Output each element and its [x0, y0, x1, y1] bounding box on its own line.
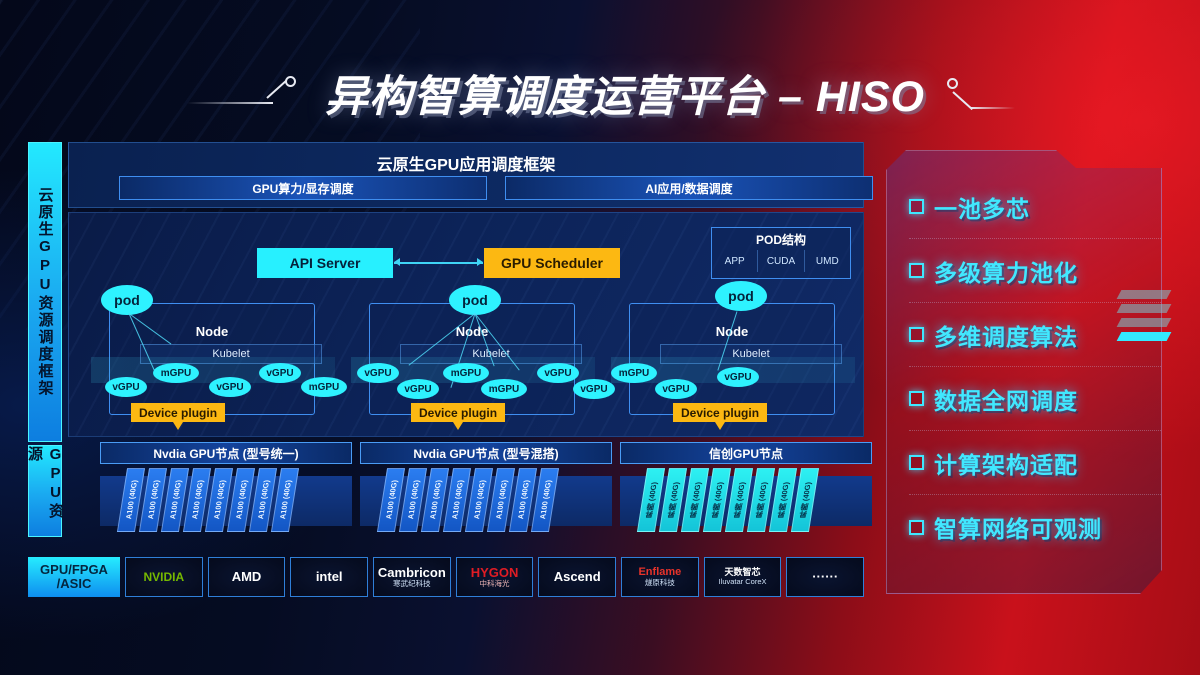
gpu-card-label: A100 (40G)	[515, 480, 530, 519]
gpu-card-label: A100 (40G)	[493, 480, 508, 519]
device-plugin-box[interactable]: Device plugin	[673, 403, 767, 422]
pod-ellipse[interactable]: pod	[449, 285, 501, 315]
vendor-name: Ascend	[554, 570, 601, 584]
vendor-name: Cambricon	[378, 566, 446, 580]
vendor-logo[interactable]: AMD	[208, 557, 286, 597]
gpu-ellipse[interactable]: mGPU	[443, 363, 489, 383]
bar-gpu-compute-scheduling[interactable]: GPU算力/显存调度	[119, 176, 487, 200]
gpu-ellipse[interactable]: vGPU	[397, 379, 439, 399]
device-plugin-arrow-icon	[453, 422, 463, 430]
gpu-card-label: 昇腾 (40G)	[687, 482, 704, 518]
vendor-name: NVIDIA	[144, 571, 185, 584]
device-plugin-arrow-icon	[173, 422, 183, 430]
scheduling-detail-panel: API Server GPU Scheduler POD结构 APP CUDA …	[68, 212, 864, 437]
gpu-ellipse[interactable]: vGPU	[259, 363, 301, 383]
bar-ai-data-scheduling[interactable]: AI应用/数据调度	[505, 176, 873, 200]
gpu-ellipse[interactable]: vGPU	[717, 367, 759, 387]
gpu-card-label: A100 (40G)	[167, 480, 182, 519]
title-ornament-right-icon	[943, 73, 1013, 113]
feature-item[interactable]: 一池多芯	[909, 175, 1161, 239]
feature-label: 计算架构适配	[934, 446, 1078, 480]
vendor-name: HYGON	[471, 566, 519, 580]
vendor-logo[interactable]: intel	[290, 557, 368, 597]
checkbox-square-icon	[909, 520, 924, 535]
arrow-right-icon	[477, 258, 483, 266]
pod-ellipse[interactable]: pod	[101, 285, 153, 315]
gpu-card-label: 昇腾 (40G)	[731, 482, 748, 518]
architecture-diagram: 云原生GPU资源调度框架 GPU资源 云原生GPU应用调度框架 GPU算力/显存…	[28, 142, 864, 600]
gpu-card-stack: A100 (40G)A100 (40G)A100 (40G)A100 (40G)…	[382, 468, 554, 532]
feature-label: 数据全网调度	[934, 382, 1078, 416]
vendor-logo-row: GPU/FPGA /ASIC NVIDIAAMDintelCambricon寒武…	[28, 557, 864, 597]
page-title: 异构智算调度运营平台 – HISO	[325, 62, 925, 124]
gpu-ellipse[interactable]: vGPU	[573, 379, 615, 399]
vendor-logo[interactable]: ······	[786, 557, 864, 597]
pod-cell-cuda: CUDA	[757, 250, 803, 272]
feature-item[interactable]: 数据全网调度	[909, 367, 1161, 431]
cloud-native-framework-panel: 云原生GPU应用调度框架 GPU算力/显存调度 AI应用/数据调度	[68, 142, 864, 208]
edge-stripe-decoration	[1119, 290, 1169, 370]
gpu-card-label: A100 (40G)	[449, 480, 464, 519]
gpu-card-label: A100 (40G)	[233, 480, 248, 519]
feature-item[interactable]: 计算架构适配	[909, 431, 1161, 495]
gpu-scheduler-box[interactable]: GPU Scheduler	[484, 248, 620, 278]
pod-structure-box: POD结构 APP CUDA UMD	[711, 227, 851, 279]
gpu-group-heading: 信创GPU节点	[620, 442, 872, 464]
vendor-logo[interactable]: HYGON中科海光	[456, 557, 534, 597]
vendor-subname: Iluvatar CoreX	[719, 578, 767, 586]
device-plugin-box[interactable]: Device plugin	[131, 403, 225, 422]
framework-heading: 云原生GPU应用调度框架	[69, 143, 863, 175]
checkbox-square-icon	[909, 263, 924, 278]
pod-cell-umd: UMD	[804, 250, 850, 272]
vendor-subname: 中科海光	[471, 580, 519, 588]
vendor-subname: 寒武纪科技	[378, 580, 446, 588]
feature-label: 一池多芯	[934, 190, 1030, 224]
gpu-card-label: 昇腾 (40G)	[709, 482, 726, 518]
title-ornament-left-icon	[187, 73, 307, 113]
gpu-card-stack: 昇腾 (40G)昇腾 (40G)昇腾 (40G)昇腾 (40G)昇腾 (40G)…	[642, 468, 814, 532]
gpu-card-label: A100 (40G)	[537, 480, 552, 519]
vendor-logo[interactable]: Enflame燧原科技	[621, 557, 699, 597]
arrow-left-icon	[394, 258, 400, 266]
gpu-node-group: 信创GPU节点 昇腾 (40G)昇腾 (40G)昇腾 (40G)昇腾 (40G)…	[620, 442, 872, 538]
gpu-card-label: A100 (40G)	[189, 480, 204, 519]
pod-ellipse[interactable]: pod	[715, 281, 767, 311]
gpu-card-label: A100 (40G)	[471, 480, 486, 519]
vendor-row-label-l2: /ASIC	[57, 577, 92, 591]
title-bar: 异构智算调度运营平台 – HISO	[0, 58, 1200, 128]
gpu-ellipse[interactable]: mGPU	[153, 363, 199, 383]
gpu-group-heading: Nvdia GPU节点 (型号统一)	[100, 442, 352, 464]
vendor-name: AMD	[232, 570, 262, 584]
gpu-card-label: 昇腾 (40G)	[665, 482, 682, 518]
gpu-group-heading: Nvdia GPU节点 (型号混搭)	[360, 442, 612, 464]
gpu-card-label: A100 (40G)	[211, 480, 226, 519]
gpu-ellipse[interactable]: mGPU	[301, 377, 347, 397]
gpu-ellipse[interactable]: vGPU	[655, 379, 697, 399]
checkbox-square-icon	[909, 391, 924, 406]
feature-label: 多级算力池化	[934, 254, 1078, 288]
vendor-name: intel	[316, 570, 343, 584]
gpu-ellipse[interactable]: vGPU	[105, 377, 147, 397]
connector-api-scheduler	[394, 262, 483, 264]
node-group: Node Kubelet pod mGPU vGPU vGPU mGPU Dev…	[611, 285, 855, 427]
vendor-subname: 燧原科技	[638, 579, 681, 587]
gpu-card-label: A100 (40G)	[427, 480, 442, 519]
device-plugin-box[interactable]: Device plugin	[411, 403, 505, 422]
gpu-card-stack: A100 (40G)A100 (40G)A100 (40G)A100 (40G)…	[122, 468, 294, 532]
gpu-card-label: A100 (40G)	[123, 480, 138, 519]
checkbox-square-icon	[909, 199, 924, 214]
vendor-logo[interactable]: Cambricon寒武纪科技	[373, 557, 451, 597]
node-group: Node Kubelet pod vGPU vGPU mGPU mGPU vGP…	[351, 285, 595, 427]
gpu-card-label: A100 (40G)	[383, 480, 398, 519]
gpu-card-label: 昇腾 (40G)	[643, 482, 660, 518]
gpu-ellipse[interactable]: mGPU	[611, 363, 657, 383]
api-server-box[interactable]: API Server	[257, 248, 393, 278]
node-title: Node	[110, 324, 314, 339]
gpu-card-label: A100 (40G)	[255, 480, 270, 519]
gpu-resource-row: Nvdia GPU节点 (型号统一) A100 (40G)A100 (40G)A…	[68, 442, 864, 538]
node-title: Node	[370, 324, 574, 339]
gpu-card-label: A100 (40G)	[277, 480, 292, 519]
pod-cell-app: APP	[712, 250, 757, 272]
gpu-ellipse[interactable]: mGPU	[481, 379, 527, 399]
side-label-framework: 云原生GPU资源调度框架	[28, 142, 62, 442]
gpu-node-group: Nvdia GPU节点 (型号统一) A100 (40G)A100 (40G)A…	[100, 442, 352, 538]
device-plugin-arrow-icon	[715, 422, 725, 430]
feature-label: 多维调度算法	[934, 318, 1078, 352]
checkbox-square-icon	[909, 327, 924, 342]
vendor-logo[interactable]: NVIDIA	[125, 557, 203, 597]
gpu-card-label: 昇腾 (40G)	[775, 482, 792, 518]
gpu-ellipse[interactable]: vGPU	[357, 363, 399, 383]
gpu-ellipse[interactable]: vGPU	[209, 377, 251, 397]
vendor-logo[interactable]: 天数智芯Iluvatar CoreX	[704, 557, 782, 597]
gpu-card-label: 昇腾 (40G)	[753, 482, 770, 518]
side-label-gpu-resource: GPU资源	[28, 445, 62, 537]
gpu-node-group: Nvdia GPU节点 (型号混搭) A100 (40G)A100 (40G)A…	[360, 442, 612, 538]
vendor-row-label: GPU/FPGA /ASIC	[28, 557, 120, 597]
gpu-card-label: A100 (40G)	[405, 480, 420, 519]
feature-item[interactable]: 智算网络可观测	[909, 495, 1161, 559]
node-group: Node Kubelet pod vGPU mGPU vGPU vGPU mGP…	[91, 285, 335, 427]
vendor-row-label-l1: GPU/FPGA	[40, 563, 108, 577]
pod-structure-title: POD结构	[712, 228, 850, 248]
feature-label: 智算网络可观测	[934, 510, 1102, 544]
gpu-card-label: A100 (40G)	[145, 480, 160, 519]
vendor-name: ······	[812, 570, 838, 584]
checkbox-square-icon	[909, 455, 924, 470]
gpu-card-label: 昇腾 (40G)	[797, 482, 814, 518]
vendor-logo[interactable]: Ascend	[538, 557, 616, 597]
feature-panel: 一池多芯多级算力池化多维调度算法数据全网调度计算架构适配智算网络可观测	[886, 150, 1162, 594]
